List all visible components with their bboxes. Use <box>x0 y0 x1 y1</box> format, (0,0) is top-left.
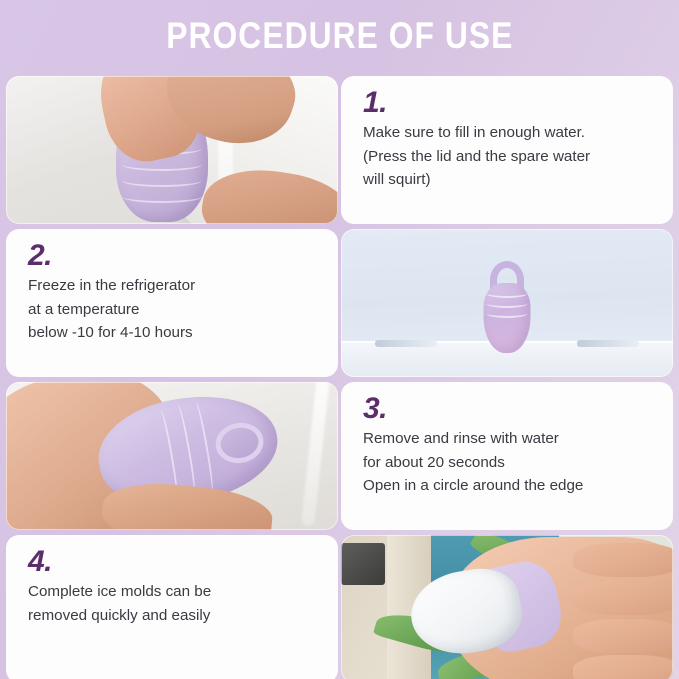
step-row-1: 1. Make sure to fill in enough water. (P… <box>6 76 673 224</box>
step-row-4: 4. Complete ice molds can be removed qui… <box>6 535 673 679</box>
step-2-text: 2. Freeze in the refrigerator at a tempe… <box>6 229 338 377</box>
step-line: Freeze in the refrigerator <box>28 275 320 298</box>
step-4-text: 4. Complete ice molds can be removed qui… <box>6 535 338 679</box>
wall-fixture-shape <box>341 543 385 585</box>
step-4-photo <box>341 535 673 679</box>
step-line: Make sure to fill in enough water. <box>363 122 655 145</box>
step-description: Freeze in the refrigerator at a temperat… <box>28 275 320 345</box>
freezer-rail-shape <box>375 340 437 347</box>
step-1-photo <box>6 76 338 224</box>
freezer-rail-shape <box>577 340 639 347</box>
step-number: 4. <box>28 546 320 577</box>
step-line: below -10 for 4-10 hours <box>28 322 320 345</box>
step-2-photo <box>341 229 673 377</box>
step-line: for about 20 seconds <box>363 452 655 475</box>
step-line: will squirt) <box>363 169 655 192</box>
steps-grid: 1. Make sure to fill in enough water. (P… <box>6 76 673 679</box>
header: PROCEDURE OF USE <box>0 0 679 72</box>
step-description: Make sure to fill in enough water. (Pres… <box>363 122 655 192</box>
step-3-text: 3. Remove and rinse with water for about… <box>341 382 673 530</box>
step-line: Remove and rinse with water <box>363 428 655 451</box>
step-line: removed quickly and easily <box>28 605 320 628</box>
step-number: 1. <box>363 87 655 118</box>
water-stream-shape <box>301 382 330 526</box>
step-line: (Press the lid and the spare water <box>363 146 655 169</box>
ice-mold-shape <box>484 283 531 353</box>
step-row-2: 2. Freeze in the refrigerator at a tempe… <box>6 229 673 377</box>
step-line: at a temperature <box>28 299 320 322</box>
step-line: Complete ice molds can be <box>28 581 320 604</box>
mold-opening-shape <box>212 419 266 467</box>
step-1-text: 1. Make sure to fill in enough water. (P… <box>341 76 673 224</box>
step-row-3: 3. Remove and rinse with water for about… <box>6 382 673 530</box>
step-line: Open in a circle around the edge <box>363 475 655 498</box>
step-description: Remove and rinse with water for about 20… <box>363 428 655 498</box>
step-3-photo <box>6 382 338 530</box>
step-description: Complete ice molds can be removed quickl… <box>28 581 320 627</box>
page-title: PROCEDURE OF USE <box>166 15 513 57</box>
step-number: 3. <box>363 393 655 424</box>
step-number: 2. <box>28 240 320 271</box>
